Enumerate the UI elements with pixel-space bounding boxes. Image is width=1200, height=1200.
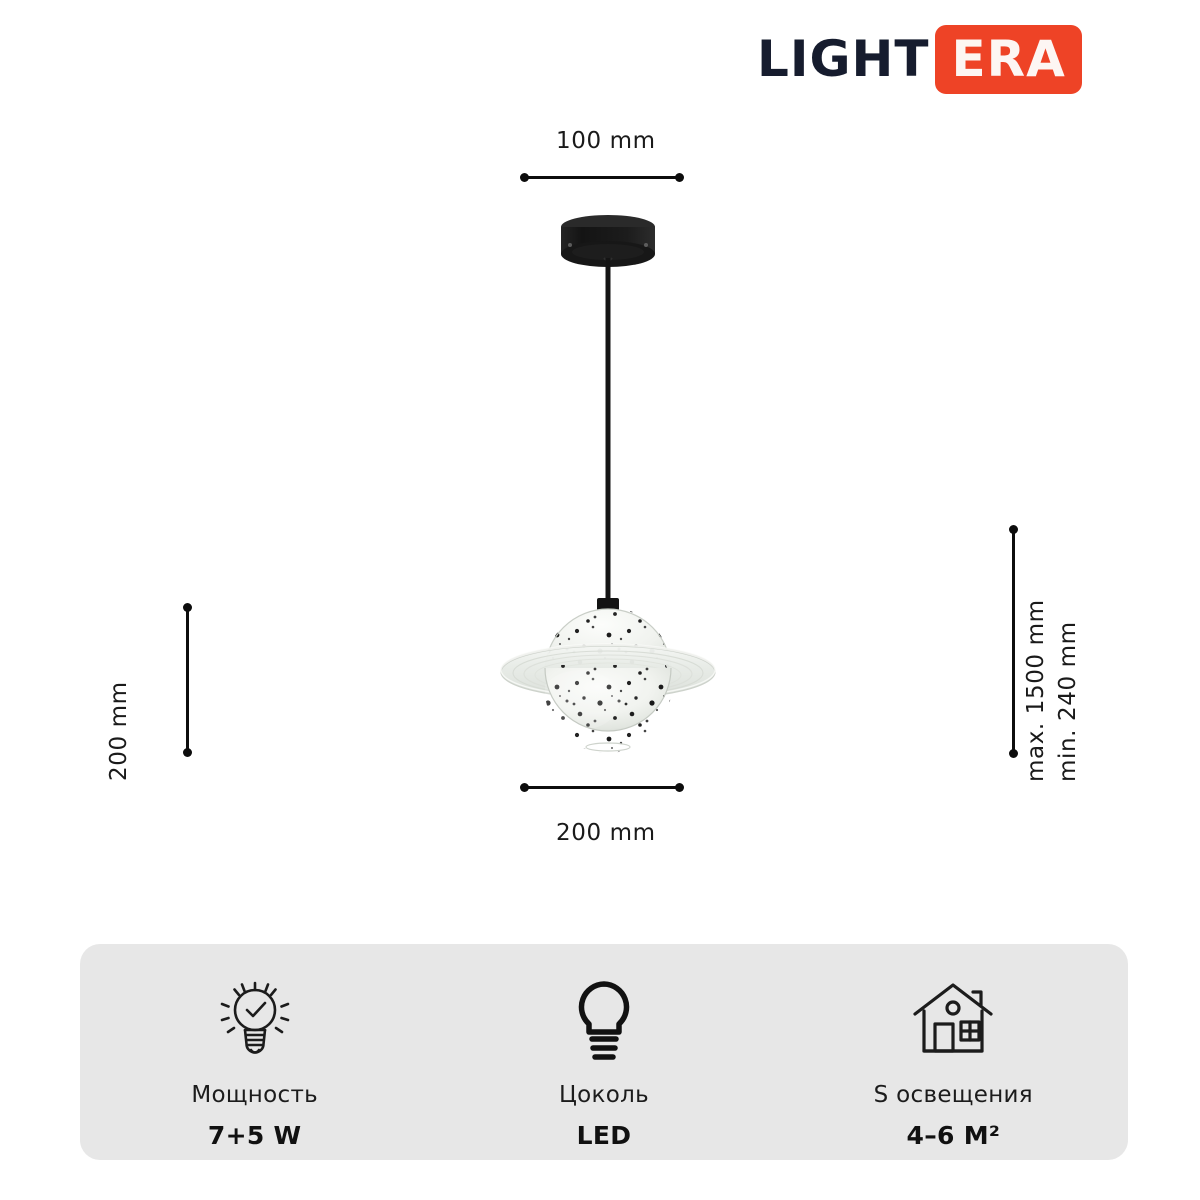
dimension-label-canopy-width: 100 mm xyxy=(556,128,656,154)
spec-item-power: Мощность 7+5 W xyxy=(80,944,429,1160)
dimension-label-shade-width: 200 mm xyxy=(556,820,656,846)
bulb-icon xyxy=(556,972,652,1068)
dimension-line-suspension xyxy=(1012,527,1015,756)
shade-lower-sphere xyxy=(540,665,680,760)
spec-item-area: S освещения 4–6 M² xyxy=(779,944,1128,1160)
dimension-label-suspension-min: min. 240 mm xyxy=(1055,621,1081,782)
spec-value-area: 4–6 M² xyxy=(907,1121,1001,1150)
dimension-line-shade-width xyxy=(522,786,682,789)
bulb-check-icon xyxy=(207,972,303,1068)
specs-panel: Мощность 7+5 W Цоколь LED xyxy=(80,944,1128,1160)
dimension-line-canopy-width xyxy=(522,176,682,179)
spec-value-power: 7+5 W xyxy=(208,1121,302,1150)
dimension-label-shade-height: 200 mm xyxy=(106,681,132,781)
spec-item-socket: Цоколь LED xyxy=(429,944,778,1160)
dimension-line-shade-height xyxy=(186,605,189,755)
spec-title-area: S освещения xyxy=(874,1082,1033,1108)
spec-title-socket: Цоколь xyxy=(559,1082,649,1108)
spec-value-socket: LED xyxy=(577,1121,632,1150)
dimension-label-suspension-max: max. 1500 mm xyxy=(1023,599,1049,782)
suspension-cord xyxy=(606,258,611,600)
house-icon xyxy=(905,972,1001,1068)
spec-title-power: Мощность xyxy=(191,1082,318,1108)
